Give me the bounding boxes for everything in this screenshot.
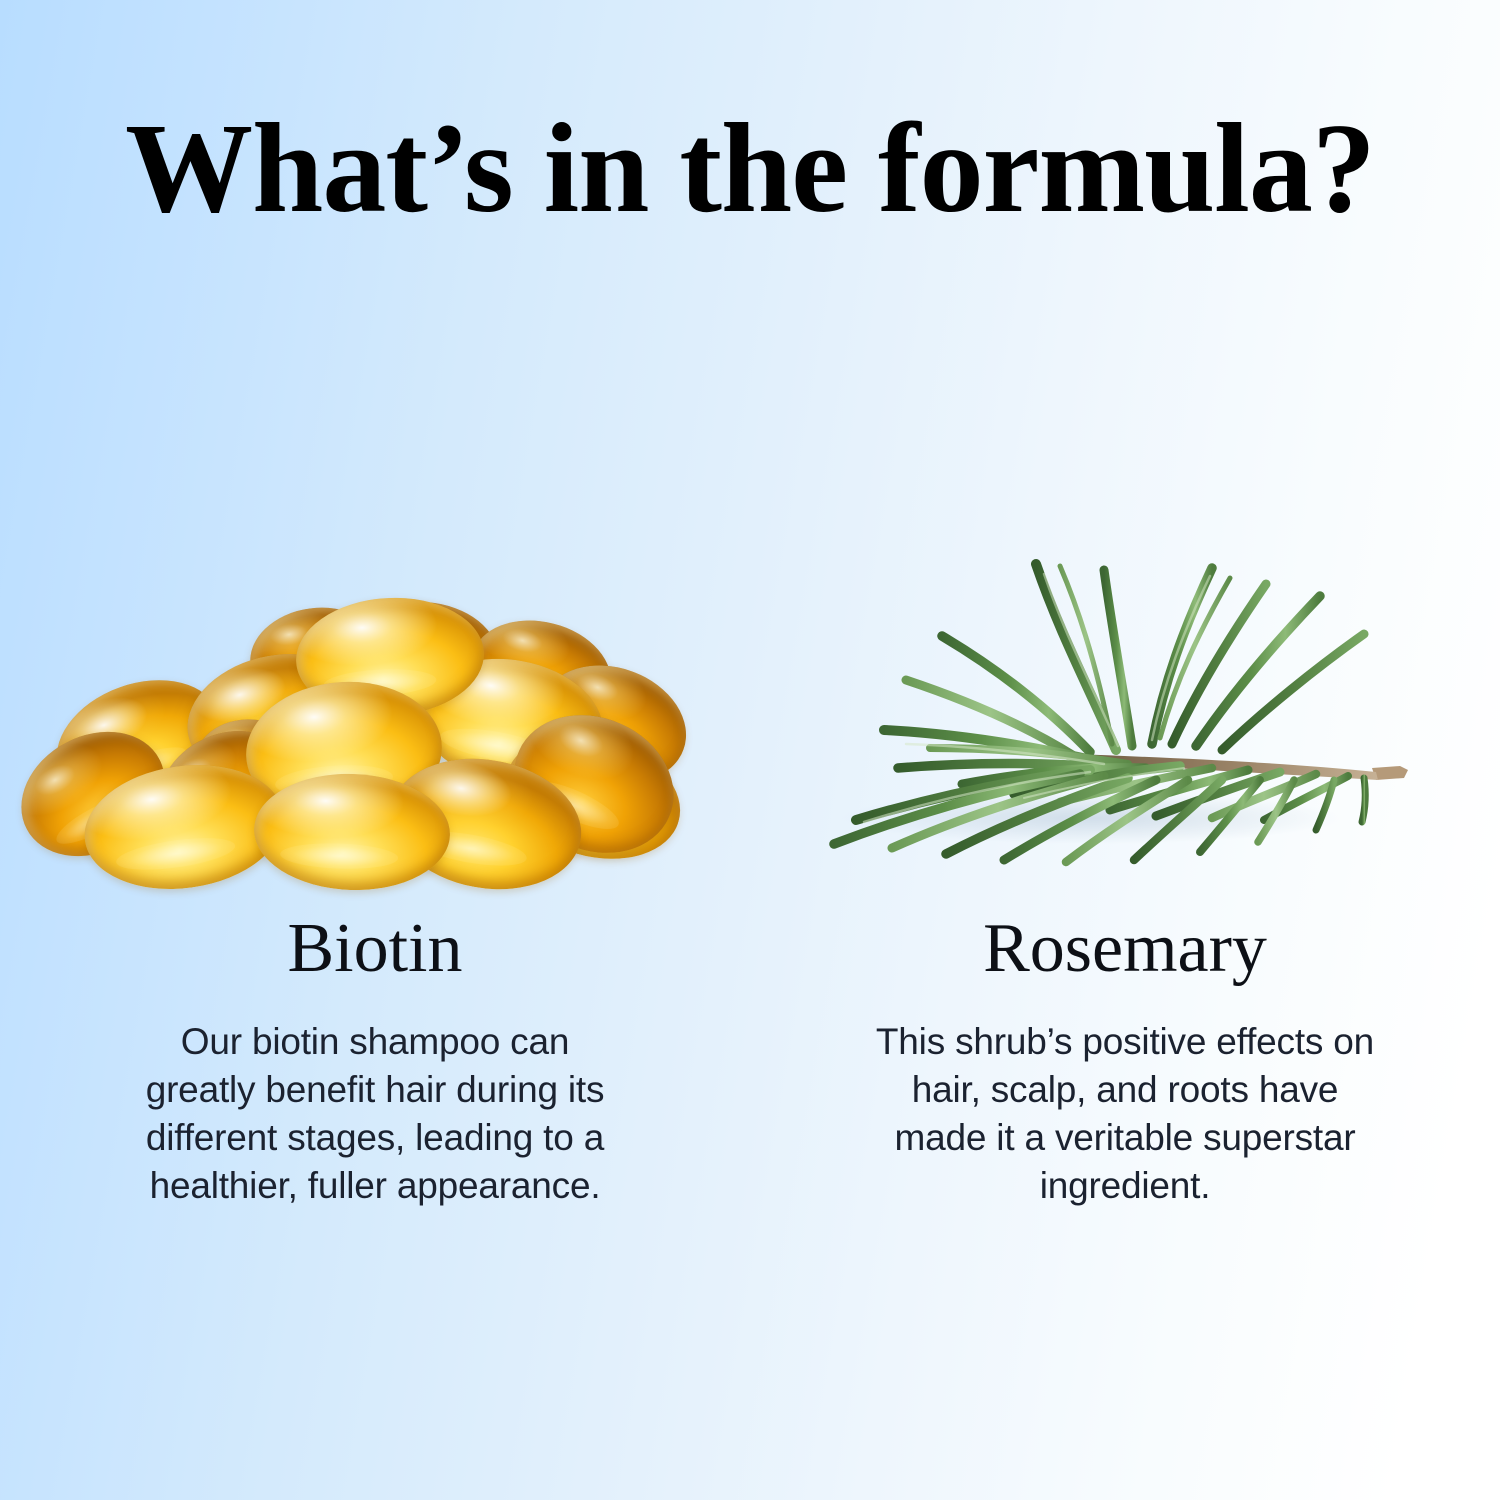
rosemary-sprig-icon <box>760 530 1460 890</box>
biotin-image <box>0 520 750 900</box>
rosemary-image <box>750 520 1500 900</box>
page-title: What’s in the formula? <box>0 104 1500 232</box>
ingredient-card-rosemary: Rosemary This shrub’s positive effects o… <box>750 520 1500 1210</box>
ingredient-name: Biotin <box>287 914 462 984</box>
ingredient-description: This shrub’s positive effects on hair, s… <box>875 1018 1375 1210</box>
ingredient-description: Our biotin shampoo can greatly benefit h… <box>135 1018 615 1210</box>
ingredient-card-biotin: Biotin Our biotin shampoo can greatly be… <box>0 520 750 1210</box>
ingredient-columns: Biotin Our biotin shampoo can greatly be… <box>0 520 1500 1210</box>
ingredient-name: Rosemary <box>983 914 1267 984</box>
infographic-canvas: What’s in the formula? <box>0 0 1500 1500</box>
softgel-capsule-pile-icon <box>18 598 678 868</box>
